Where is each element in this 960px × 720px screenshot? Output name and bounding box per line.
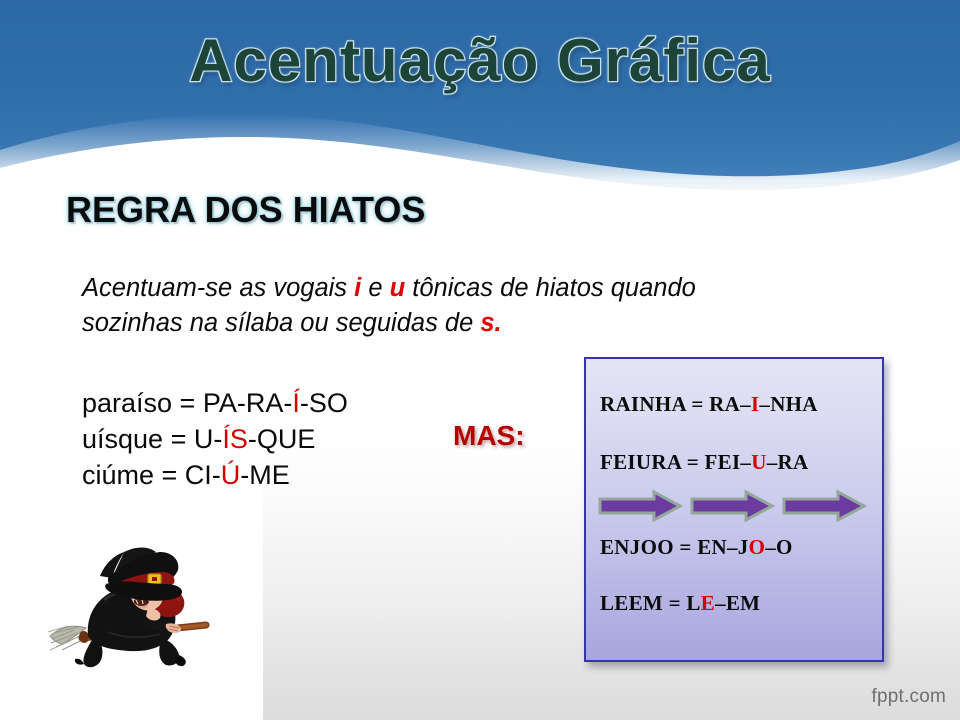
callout-prefix: LEEM = L [600,591,701,615]
example-word: uísque = U- [82,424,222,454]
rule-line-2: sozinhas na sílaba ou seguidas de s. [82,306,872,341]
right-arrow-icon [600,492,680,520]
example-tail: -SO [300,388,348,418]
example-row: uísque = U-ÍS-QUE [82,421,348,457]
callout-red-letter: U [751,450,766,474]
example-tail: -QUE [248,424,316,454]
right-arrow-icon [784,492,864,520]
example-row: paraíso = PA-RA-Í-SO [82,385,348,421]
page-title: Acentuação Gráfica [0,26,960,95]
right-arrow-icon [692,492,772,520]
callout-prefix: RAINHA = RA– [600,392,751,416]
rule-line-1-part-a: Acentuam-se as vogais [82,274,354,302]
callout-suffix: –EM [715,591,760,615]
rule-letter-s: s. [480,309,501,337]
arrow-row [596,487,876,525]
example-tail: -ME [240,460,290,490]
witch-on-broomstick-illustration [48,540,263,685]
right-arrow-icon-group [596,487,876,525]
header-banner: Acentuação Gráfica [0,0,960,205]
callout-red-letter: O [749,535,766,559]
example-row: ciúme = CI-Ú-ME [82,457,348,493]
callout-line: FEIURA = FEI–U–RA [600,450,808,475]
section-heading: REGRA DOS HIATOS [66,189,425,231]
rule-line-1-part-c: tônicas de hiatos quando [405,274,696,302]
callout-line: ENJOO = EN–JO–O [600,535,793,560]
watermark-fppt: fppt.com [872,686,946,708]
rule-vowel-u: u [390,274,406,302]
example-accent: ÍS [222,424,248,454]
exceptions-callout-box: RAINHA = RA–I–NHA FEIURA = FEI–U–RA ENJO… [584,357,884,662]
callout-prefix: ENJOO = EN–J [600,535,749,559]
mas-label: MAS: [453,420,525,452]
callout-suffix: –RA [767,450,809,474]
callout-prefix: FEIURA = FEI– [600,450,751,474]
rule-line-2-part-a: sozinhas na sílaba ou seguidas de [82,309,480,337]
examples-list: paraíso = PA-RA-Í-SO uísque = U-ÍS-QUE c… [82,385,348,493]
witch-hat [100,548,182,601]
example-accent: Í [292,388,300,418]
callout-suffix: –NHA [759,392,817,416]
slide-canvas: Acentuação Gráfica REGRA DOS HIATOS Acen… [0,0,960,720]
example-accent: Ú [221,460,241,490]
callout-line: LEEM = LE–EM [600,591,760,616]
rule-line-1: Acentuam-se as vogais i e u tônicas de h… [82,271,872,306]
callout-line: RAINHA = RA–I–NHA [600,392,818,417]
rule-line-1-part-b: e [361,274,389,302]
rule-paragraph: Acentuam-se as vogais i e u tônicas de h… [82,271,872,341]
callout-suffix: –O [765,535,792,559]
callout-red-letter: E [701,591,715,615]
witch-illustration-graphic [48,540,263,685]
example-word: ciúme = CI- [82,460,221,490]
example-word: paraíso = PA-RA- [82,388,292,418]
page-title-text: Acentuação Gráfica [189,26,771,95]
